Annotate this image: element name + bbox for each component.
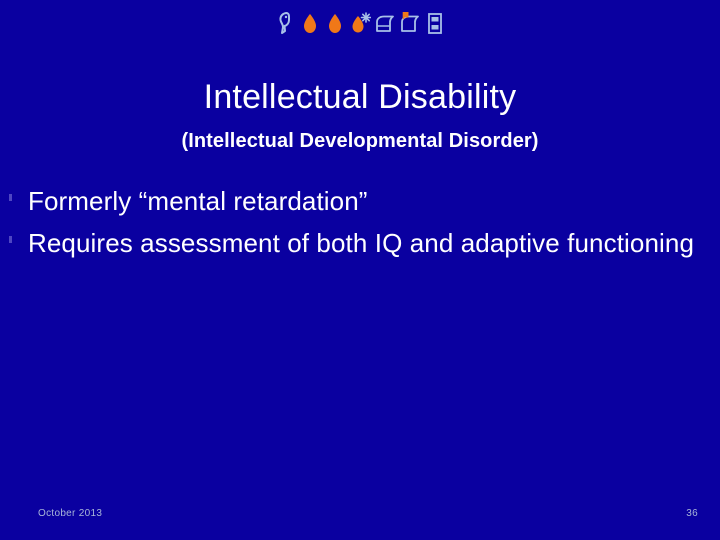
bullet-item: Requires assessment of both IQ and adapt… (0, 224, 700, 262)
drop-sparkle-icon (349, 9, 371, 37)
mailbox-flag-icon (399, 9, 421, 37)
slide-subtitle: (Intellectual Developmental Disorder) (0, 130, 720, 153)
slide-body: Formerly “mental retardation” Requires a… (0, 182, 700, 267)
bullet-marker-icon (9, 236, 12, 243)
bullet-item: Formerly “mental retardation” (0, 182, 700, 220)
flame-drop-icon (324, 9, 346, 37)
bird-icon (274, 9, 296, 37)
footer-date: October 2013 (38, 508, 102, 519)
bullet-text: Requires assessment of both IQ and adapt… (28, 228, 694, 258)
slide-canvas: Intellectual Disability (Intellectual De… (0, 0, 720, 540)
panel-switch-icon (424, 9, 446, 37)
decorative-icon-row (0, 6, 720, 40)
slide-title: Intellectual Disability (0, 78, 720, 116)
bullet-marker-icon (9, 194, 12, 201)
bullet-text: Formerly “mental retardation” (28, 186, 368, 216)
footer-page-number: 36 (686, 508, 698, 519)
mailbox-icon (374, 9, 396, 37)
flame-drop-icon (299, 9, 321, 37)
